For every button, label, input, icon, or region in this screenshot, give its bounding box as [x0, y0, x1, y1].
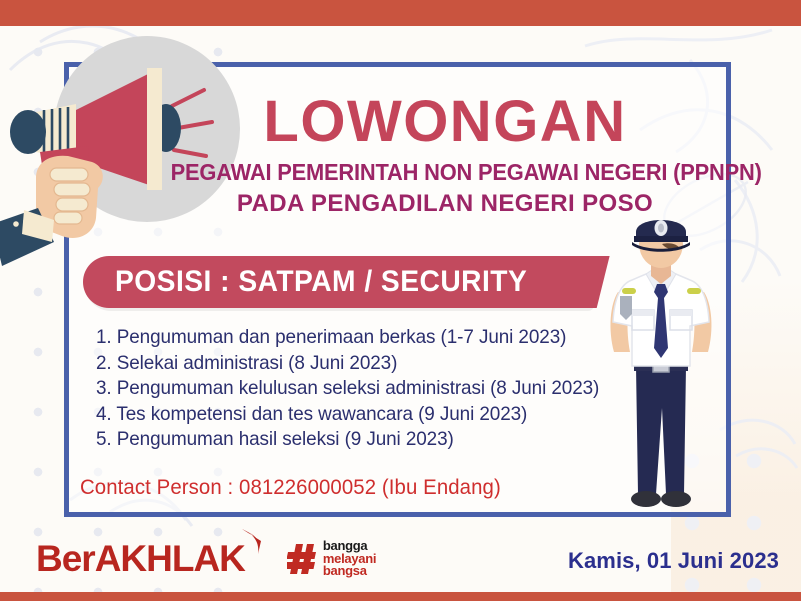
- bottom-red-bar: [0, 592, 801, 601]
- list-item: 4. Tes kompetensi dan tes wawancara (9 J…: [96, 402, 581, 428]
- bmb-tagline: bangga melayani bangsa: [323, 540, 376, 578]
- poster-canvas: LOWONGAN PEGAWAI PEMERINTAH NON PEGAWAI …: [0, 0, 801, 601]
- subtitle-line-2: PADA PENGADILAN NEGERI POSO: [150, 190, 740, 218]
- bangga-melayani-bangsa-logo: bangga melayani bangsa: [287, 540, 376, 578]
- publish-date: Kamis, 01 Juni 2023: [568, 548, 779, 574]
- position-label: POSISI : SATPAM / SECURITY: [115, 265, 527, 299]
- list-item: 3. Pengumuman kelulusan seleksi administ…: [96, 376, 581, 402]
- title-block: LOWONGAN PEGAWAI PEMERINTAH NON PEGAWAI …: [150, 92, 740, 218]
- list-item: 2. Selekai administrasi (8 Juni 2023): [96, 351, 581, 377]
- berakhlak-logo: BerAKHLAK: [36, 540, 245, 577]
- tagline-line-3: bangsa: [323, 565, 376, 578]
- subtitle-line-1: PEGAWAI PEMERINTAH NON PEGAWAI NEGERI (P…: [171, 159, 720, 186]
- footer-logo-group: BerAKHLAK bangga melayani bangsa: [36, 540, 376, 578]
- list-item: 1. Pengumuman dan penerimaan berkas (1-7…: [96, 325, 581, 351]
- security-guard-illustration: [596, 218, 726, 518]
- top-red-bar: [0, 0, 801, 26]
- list-item: 5. Pengumuman hasil seleksi (9 Juni 2023…: [96, 427, 581, 453]
- page-title: LOWONGAN: [150, 92, 740, 151]
- hash-icon: [287, 542, 317, 576]
- position-banner: POSISI : SATPAM / SECURITY: [83, 256, 592, 308]
- berakhlak-text: BerAKHLAK: [36, 538, 245, 579]
- announcement-steps-list: 1. Pengumuman dan penerimaan berkas (1-7…: [96, 325, 596, 453]
- contact-person-text: Contact Person : 081226000052 (Ibu Endan…: [80, 476, 501, 500]
- chevron-swoosh-icon: [239, 528, 265, 556]
